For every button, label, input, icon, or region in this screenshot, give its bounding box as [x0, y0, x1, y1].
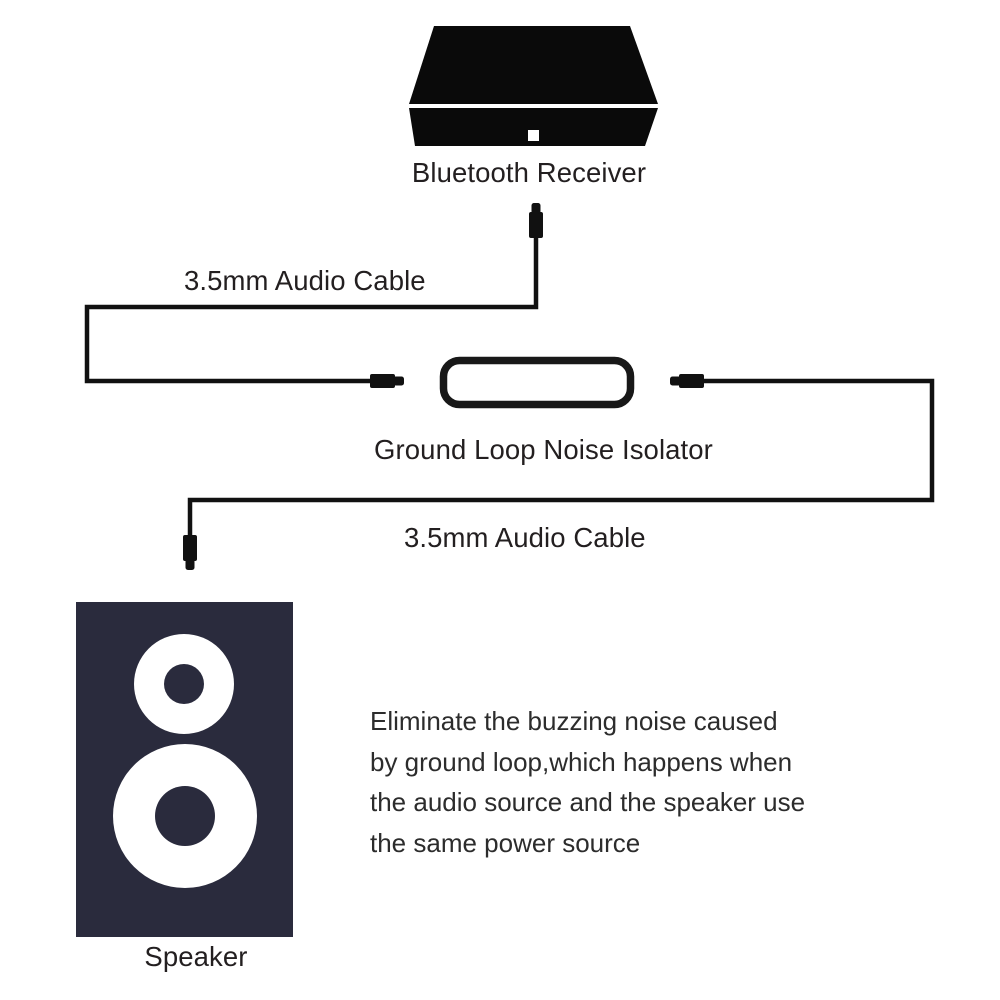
- description-line-1: Eliminate the buzzing noise caused: [370, 701, 830, 742]
- ground-loop-noise-isolator-device: [444, 361, 631, 405]
- cable-top-plug-lower: [370, 374, 404, 388]
- ground-loop-noise-isolator-label: Ground Loop Noise Isolator: [0, 434, 1000, 466]
- cable-top-label: 3.5mm Audio Cable: [184, 265, 426, 297]
- receiver-led-indicator: [528, 130, 539, 141]
- speaker-label: Speaker: [76, 941, 316, 973]
- receiver-seam-line: [408, 104, 659, 108]
- cable-bottom-label: 3.5mm Audio Cable: [404, 522, 646, 554]
- receiver-top-face: [409, 26, 658, 104]
- description-line-4: the same power source: [370, 823, 830, 864]
- cable-top-plug-upper: [529, 203, 543, 238]
- speaker-woofer-driver: [113, 744, 257, 888]
- bluetooth-receiver-device: [408, 26, 659, 146]
- cable-bottom-plug-speaker: [183, 535, 197, 570]
- description-line-3: the audio source and the speaker use: [370, 782, 830, 823]
- diagram-canvas: Bluetooth Receiver 3.5mm Audio Cable Gro…: [0, 0, 1000, 1000]
- description-line-2: by ground loop,which happens when: [370, 742, 830, 783]
- speaker-tweeter-driver: [134, 634, 234, 734]
- isolator-body: [444, 361, 631, 405]
- speaker-device: [76, 602, 293, 937]
- bluetooth-receiver-label: Bluetooth Receiver: [0, 157, 1000, 189]
- cable-bottom-plug-right: [670, 374, 704, 388]
- description-text-block: Eliminate the buzzing noise caused by gr…: [370, 701, 830, 863]
